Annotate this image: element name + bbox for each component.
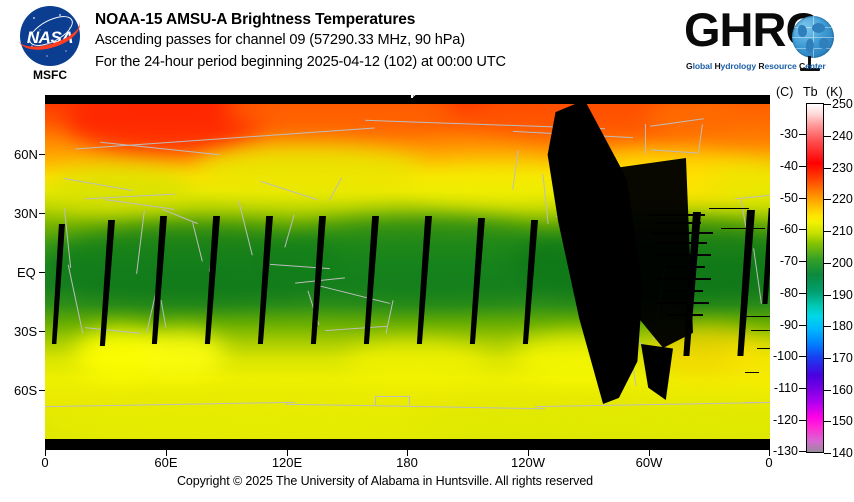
lon-label-120e: 120E <box>272 455 302 470</box>
lat-label-30s: 30S <box>14 324 37 339</box>
map-bottom-nodata-bar <box>45 439 770 450</box>
ghrc-subtitle: Global Hydrology Resource Center <box>686 61 846 71</box>
lat-label-60s: 60S <box>14 383 37 398</box>
subtitle-period: For the 24-hour period beginning 2025-04… <box>95 52 695 74</box>
map-top-nodata-bar <box>45 95 770 104</box>
colorbar-variable: Tb <box>803 85 818 99</box>
scan-direction-marker-icon <box>411 87 457 99</box>
header: NASA MSFC NOAA-15 AMSU-A Brightness Temp… <box>0 0 854 92</box>
page-title: NOAA-15 AMSU-A Brightness Temperatures <box>95 9 695 30</box>
nasa-logo: NASA MSFC <box>16 6 84 86</box>
globe-parallel <box>792 37 834 38</box>
lon-label-120w: 120W <box>511 455 545 470</box>
colorbar: (C) Tb (K) -30 -40 -50 -60 -70 -80 -90 -… <box>776 85 854 460</box>
globe-landmass <box>819 38 829 49</box>
lat-label-30n: 30N <box>14 206 38 221</box>
colorbar-gradient <box>806 103 824 453</box>
nasa-logo-swoosh <box>15 18 83 52</box>
copyright-notice: Copyright © 2025 The University of Alaba… <box>0 474 770 488</box>
ghrc-globe-icon <box>792 16 834 58</box>
ghrc-logo: GHRC Global Hydrology Resource Center <box>684 6 846 78</box>
lon-label-60w: 60W <box>636 455 663 470</box>
map-panel <box>45 95 770 450</box>
lon-label-180: 180 <box>396 455 418 470</box>
lon-label-0a: 0 <box>41 455 48 470</box>
lat-label-eq: EQ <box>17 265 36 280</box>
title-block: NOAA-15 AMSU-A Brightness Temperatures A… <box>95 9 695 73</box>
brightness-temperature-field <box>45 104 770 439</box>
globe-landmass <box>812 23 825 33</box>
globe-landmass <box>798 25 807 37</box>
subtitle-channel: Ascending passes for channel 09 (57290.3… <box>95 30 695 52</box>
nasa-center-label: MSFC <box>16 68 84 82</box>
lat-label-60n: 60N <box>14 147 38 162</box>
colorbar-unit-celsius: (C) <box>776 85 793 99</box>
lon-label-60e: 60E <box>154 455 177 470</box>
